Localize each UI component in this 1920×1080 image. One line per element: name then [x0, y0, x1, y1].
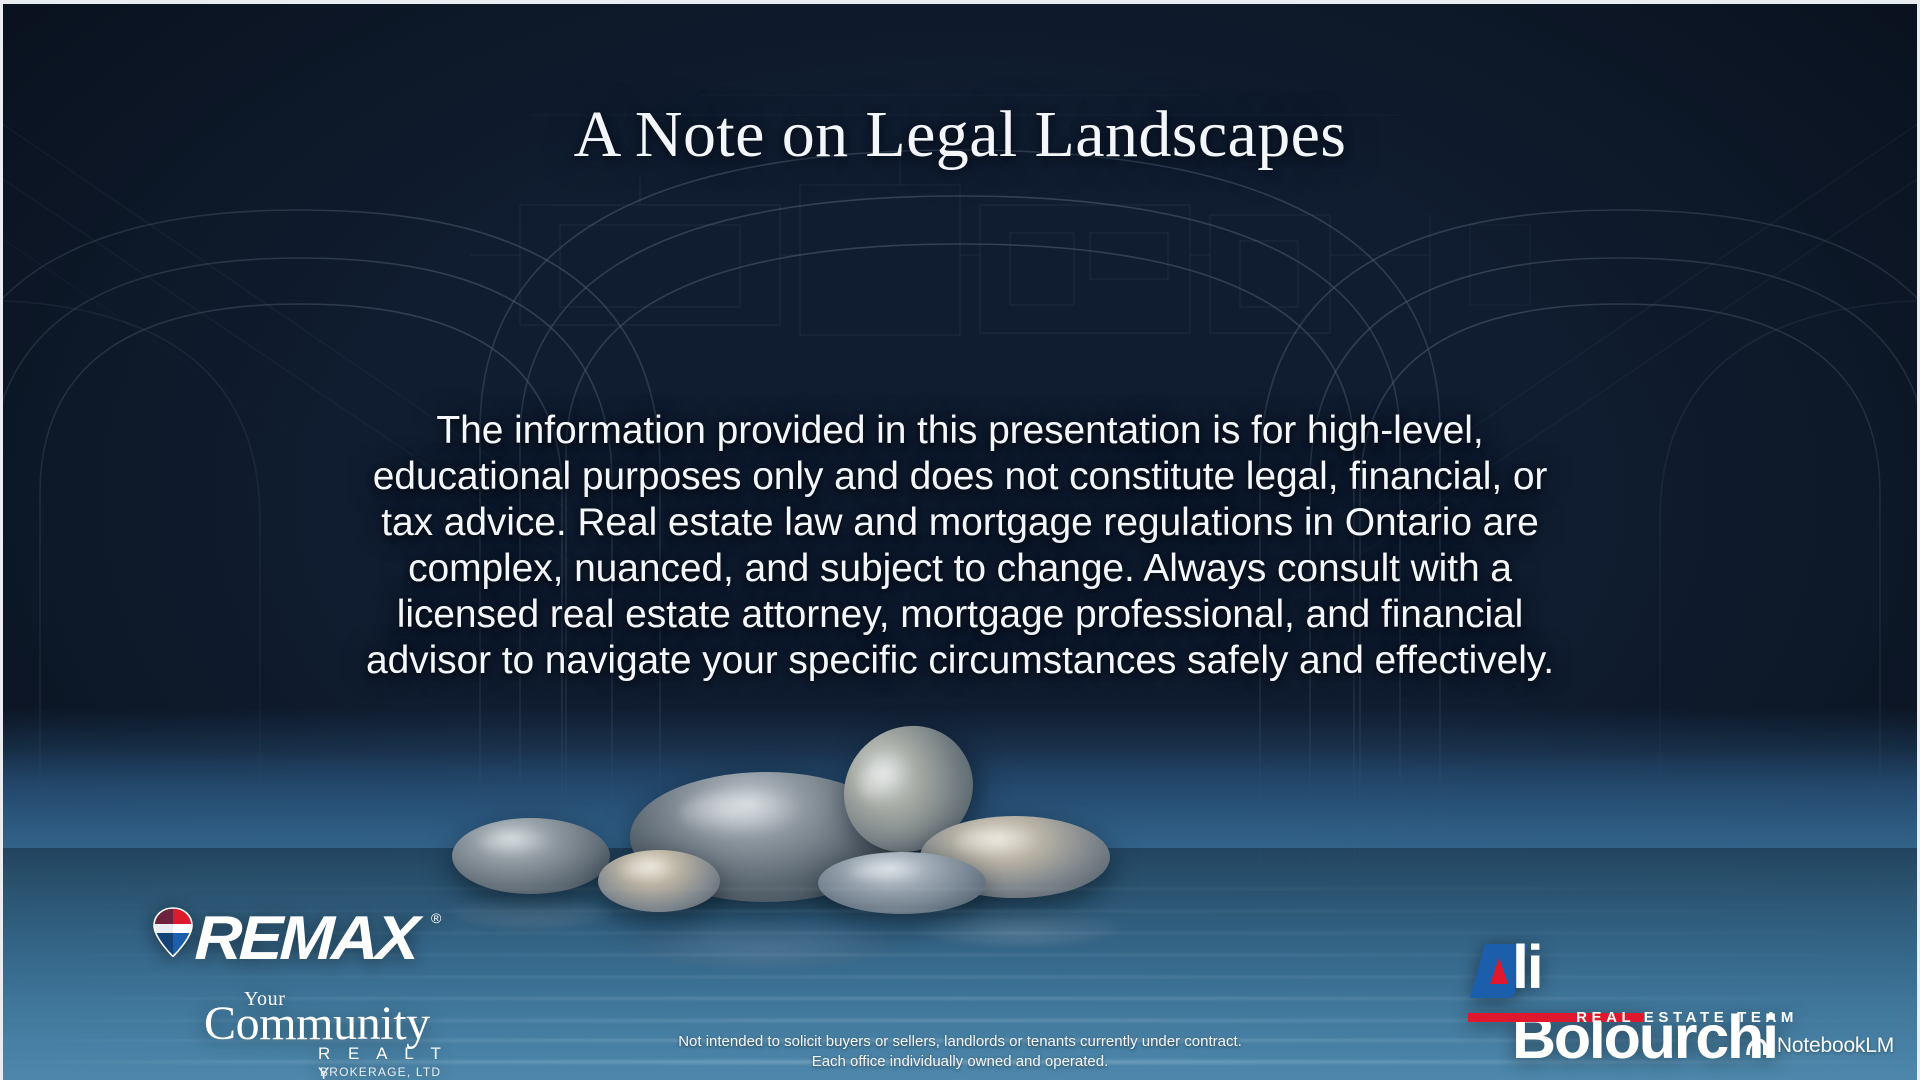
disclaimer-line-2: Each office individually owned and opera…: [0, 1052, 1920, 1072]
notebooklm-watermark: NotebookLM: [1745, 1034, 1894, 1058]
slide-title: A Note on Legal Landscapes: [0, 97, 1920, 173]
ali-bolourchi-logo: li Bolourchi REAL ESTATE TEAM: [1468, 938, 1798, 1028]
ali-tagline: REAL ESTATE TEAM: [1576, 1009, 1798, 1026]
presentation-slide: A Note on Legal Landscapes The informati…: [0, 0, 1920, 1080]
registered-trademark-icon: ®: [431, 910, 441, 926]
notebooklm-arc-icon: [1745, 1037, 1768, 1056]
remax-balloon-icon: [152, 907, 194, 957]
disclaimer-line-1: Not intended to solicit buyers or seller…: [0, 1032, 1920, 1052]
remax-wordmark: REMAX: [194, 908, 418, 970]
footer-disclaimer: Not intended to solicit buyers or seller…: [0, 1032, 1920, 1072]
notebooklm-label: NotebookLM: [1777, 1034, 1894, 1058]
slide-body-text: The information provided in this present…: [365, 408, 1555, 684]
